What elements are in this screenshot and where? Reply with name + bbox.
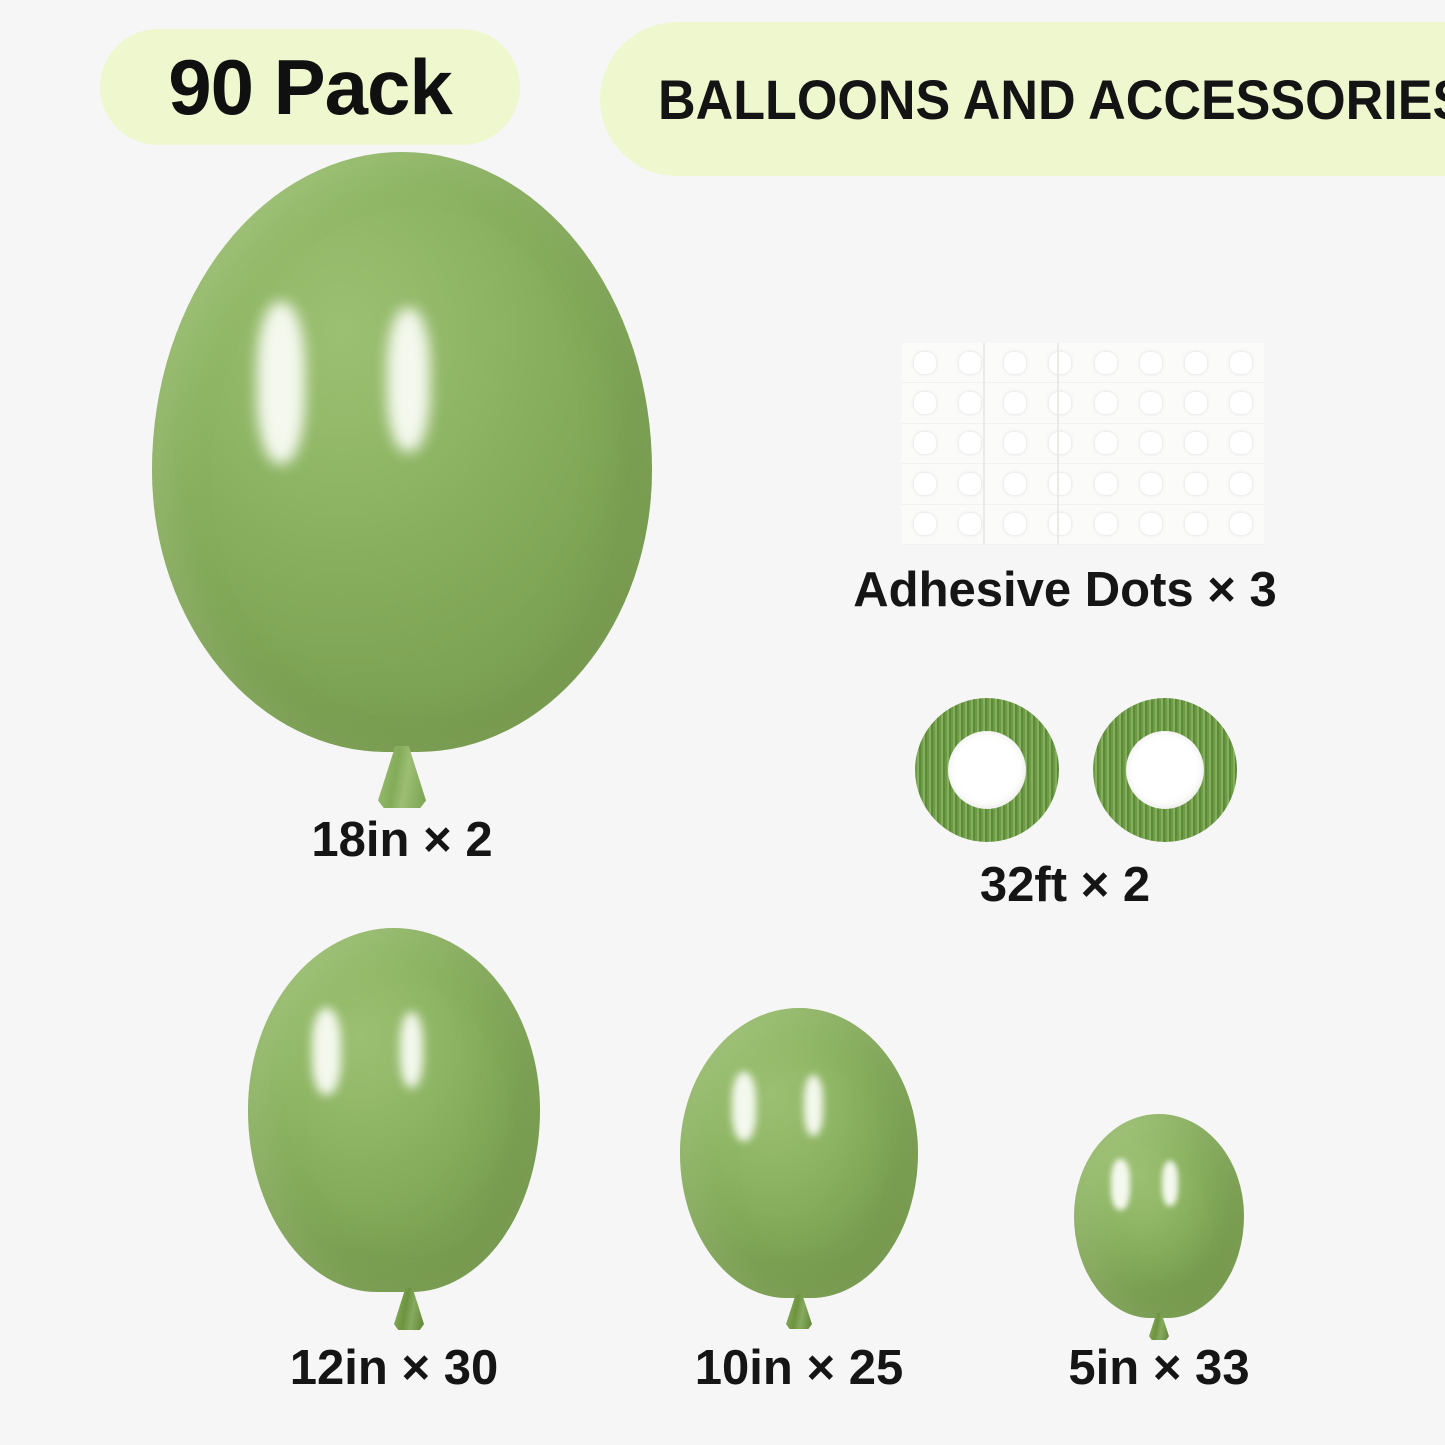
- balloon-highlight-left: [257, 302, 305, 464]
- dot-cell: [1174, 464, 1219, 504]
- adhesive-dot: [1004, 513, 1026, 535]
- adhesive-dots-caption: Adhesive Dots × 3: [810, 562, 1320, 618]
- dot-cell: [947, 505, 992, 545]
- adhesive-dot: [1004, 432, 1026, 454]
- pack-count-badge: 90 Pack: [100, 29, 520, 145]
- adhesive-dot: [1140, 352, 1162, 374]
- adhesive-dot: [1140, 513, 1162, 535]
- dot-cell: [1174, 424, 1219, 464]
- dot-cell: [1128, 464, 1173, 504]
- dot-cell: [1128, 343, 1173, 383]
- balloon-highlight-right: [400, 1012, 423, 1088]
- adhesive-dot: [1230, 392, 1252, 414]
- dot-cell: [1128, 505, 1173, 545]
- adhesive-dot: [914, 513, 936, 535]
- adhesive-dot: [1049, 352, 1071, 374]
- dot-cell: [1038, 505, 1083, 545]
- dot-cell: [993, 505, 1038, 545]
- adhesive-dot: [1049, 513, 1071, 535]
- balloon-body: [152, 152, 652, 752]
- dot-cell: [902, 383, 947, 423]
- balloon-10in: [680, 1008, 918, 1298]
- accessories-title-label: BALLOONS AND ACCESSORIES: [658, 67, 1445, 132]
- sheet-seam: [1057, 343, 1059, 545]
- pack-count-label: 90 Pack: [168, 42, 452, 133]
- dot-cell: [1174, 343, 1219, 383]
- dot-cell: [1219, 343, 1264, 383]
- adhesive-dot: [1185, 432, 1207, 454]
- dot-cell: [947, 343, 992, 383]
- balloon-knot: [786, 1294, 812, 1329]
- adhesive-dot: [1004, 473, 1026, 495]
- dot-cell: [1038, 383, 1083, 423]
- balloon-18in-caption: 18in × 2: [152, 812, 652, 868]
- adhesive-dot: [959, 352, 981, 374]
- dot-cell: [1219, 505, 1264, 545]
- adhesive-dot: [959, 392, 981, 414]
- ribbon-roll: [1093, 698, 1237, 842]
- dot-cell: [1174, 505, 1219, 545]
- dot-cell: [1083, 383, 1128, 423]
- adhesive-dot: [1185, 473, 1207, 495]
- dot-cell: [947, 424, 992, 464]
- balloon-highlight-right: [1162, 1161, 1177, 1206]
- dot-cell: [902, 424, 947, 464]
- dot-cell: [1038, 424, 1083, 464]
- ribbon-roll: [915, 698, 1059, 842]
- balloon-10in-caption: 10in × 25: [655, 1340, 943, 1396]
- adhesive-dot: [1095, 392, 1117, 414]
- sheet-seam: [983, 343, 985, 545]
- dot-cell: [902, 343, 947, 383]
- balloon-highlight-right: [387, 308, 430, 452]
- adhesive-dot: [914, 432, 936, 454]
- balloon-body: [680, 1008, 918, 1298]
- adhesive-dot: [1230, 352, 1252, 374]
- adhesive-dot: [959, 513, 981, 535]
- dot-cell: [1219, 464, 1264, 504]
- dot-cell: [1038, 343, 1083, 383]
- adhesive-dot: [1049, 473, 1071, 495]
- dot-cell: [1038, 464, 1083, 504]
- adhesive-dots-sheet: [902, 343, 1264, 545]
- adhesive-dot: [1185, 513, 1207, 535]
- balloon-highlight-left: [312, 1008, 341, 1095]
- dot-cell: [1083, 464, 1128, 504]
- dot-cell: [1174, 383, 1219, 423]
- adhesive-dot: [1004, 352, 1026, 374]
- dot-cell: [993, 424, 1038, 464]
- accessories-title-badge: BALLOONS AND ACCESSORIES: [600, 22, 1445, 176]
- adhesive-dot: [1140, 432, 1162, 454]
- dot-cell: [947, 464, 992, 504]
- adhesive-dot: [1185, 392, 1207, 414]
- dot-cell: [1219, 383, 1264, 423]
- dot-cell: [993, 343, 1038, 383]
- dot-cell: [1219, 424, 1264, 464]
- adhesive-dot: [1095, 352, 1117, 374]
- balloon-body: [248, 928, 540, 1292]
- balloon-18in: [152, 152, 652, 752]
- balloon-highlight-left: [1111, 1159, 1130, 1210]
- balloon-5in-caption: 5in × 33: [1050, 1340, 1268, 1396]
- dot-cell: [1083, 343, 1128, 383]
- adhesive-dot: [1230, 432, 1252, 454]
- balloon-5in: [1074, 1114, 1244, 1318]
- dot-cell: [993, 383, 1038, 423]
- adhesive-dot: [914, 392, 936, 414]
- adhesive-dot: [1140, 392, 1162, 414]
- balloon-knot: [394, 1288, 424, 1330]
- dot-cell: [1083, 505, 1128, 545]
- adhesive-dot: [1230, 513, 1252, 535]
- balloon-highlight-left: [732, 1072, 756, 1142]
- adhesive-dot: [1049, 392, 1071, 414]
- balloon-knot: [378, 746, 426, 808]
- balloon-12in: [248, 928, 540, 1292]
- adhesive-dot: [1230, 473, 1252, 495]
- adhesive-dot: [1095, 432, 1117, 454]
- product-infographic: 90 Pack BALLOONS AND ACCESSORIES 18in × …: [0, 0, 1445, 1445]
- adhesive-dot: [1095, 513, 1117, 535]
- ribbon-roll-caption: 32ft × 2: [940, 857, 1190, 913]
- adhesive-dot: [1095, 473, 1117, 495]
- balloon-12in-caption: 12in × 30: [248, 1340, 540, 1396]
- adhesive-dot: [914, 473, 936, 495]
- dot-cell: [993, 464, 1038, 504]
- balloon-body: [1074, 1114, 1244, 1318]
- dot-cell: [1128, 424, 1173, 464]
- dot-cell: [947, 383, 992, 423]
- adhesive-dot: [914, 352, 936, 374]
- adhesive-dot: [1049, 432, 1071, 454]
- dot-cell: [1128, 383, 1173, 423]
- dot-cell: [1083, 424, 1128, 464]
- dot-cell: [902, 505, 947, 545]
- adhesive-dot: [1004, 392, 1026, 414]
- adhesive-dot: [959, 432, 981, 454]
- dot-cell: [902, 464, 947, 504]
- balloon-highlight-right: [804, 1075, 823, 1136]
- adhesive-dot: [1185, 352, 1207, 374]
- adhesive-dot: [959, 473, 981, 495]
- adhesive-dot: [1140, 473, 1162, 495]
